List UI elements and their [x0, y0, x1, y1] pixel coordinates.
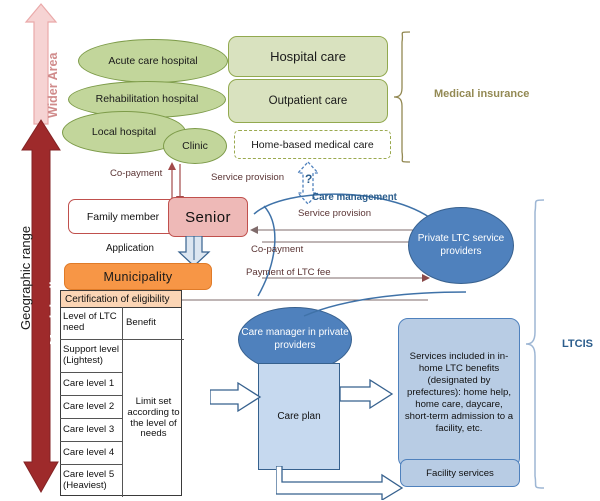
node-senior[interactable]: Senior [168, 197, 248, 237]
table-header-level: Level of LTC need [60, 307, 123, 339]
axis-label-geographic-range: Geographic range [18, 226, 33, 330]
node-label: Municipality [104, 270, 173, 284]
medical-insurance-label: Medical insurance [434, 88, 529, 100]
node-in-home-ltc-services[interactable]: Services included in in-home LTC benefit… [398, 318, 520, 468]
node-label: Senior [185, 209, 231, 226]
arrow-care-plan-to-services [340, 378, 394, 410]
table-row: Care level 2 [60, 395, 123, 418]
ltcis-label: LTCIS [562, 338, 593, 350]
table-row: Care level 1 [60, 372, 123, 395]
node-family-member[interactable]: Family member [68, 199, 178, 234]
arrow-table-to-care-plan [210, 381, 262, 413]
label-co-payment-clinic: Co-payment [110, 168, 162, 179]
node-acute-care-hospital[interactable]: Acute care hospital [78, 39, 228, 83]
node-hospital-care[interactable]: Hospital care [228, 36, 388, 77]
ltcis-bracket [524, 198, 564, 490]
label-co-payment-ltc: Co-payment [251, 244, 303, 255]
medical-insurance-bracket [392, 30, 432, 165]
node-label: Family member [87, 211, 159, 223]
node-label: Services included in in-home LTC benefit… [404, 351, 514, 435]
node-label: Care manager in private providers [239, 327, 351, 352]
node-home-based-medical-care[interactable]: Home-based medical care [234, 130, 391, 159]
label-service-provision-ltc: Service provision [298, 208, 371, 219]
eligibility-table: Level of LTC need Benefit Support level … [60, 308, 182, 496]
node-label: Home-based medical care [251, 139, 374, 151]
node-label: Acute care hospital [108, 55, 197, 67]
node-facility-services[interactable]: Facility services [400, 459, 520, 487]
node-label: Rehabilitation hospital [96, 93, 199, 105]
node-label: Hospital care [270, 49, 346, 64]
label-care-management: Care management [312, 192, 397, 203]
table-row: Care level 4 [60, 441, 123, 464]
table-row: Support level (Lightest) [60, 339, 123, 372]
diagram-canvas: Geographic range Wider Area Municipality… [0, 0, 600, 501]
node-private-ltc-service-providers[interactable]: Private LTC service providers [408, 207, 514, 284]
node-label: Facility services [426, 468, 494, 479]
table-row: Care level 5 (Heaviest) [60, 464, 123, 497]
wider-area-label: Wider Area [46, 53, 60, 118]
label-question-mark: ? [305, 172, 312, 186]
table-caption-certification: Certification of eligibility [60, 290, 182, 308]
arrow-care-plan-to-facility [276, 466, 404, 500]
node-municipality[interactable]: Municipality [64, 263, 212, 290]
node-label: Care plan [277, 411, 320, 422]
node-clinic[interactable]: Clinic [163, 128, 227, 164]
label-application: Application [106, 243, 154, 254]
node-care-plan[interactable]: Care plan [258, 363, 340, 470]
label-payment-of-ltc-fee: Payment of LTC fee [246, 267, 331, 278]
table-row: Care level 3 [60, 418, 123, 441]
table-cell-benefit-limit: Limit set according to the level of need… [123, 339, 184, 497]
node-label: Private LTC service providers [409, 233, 513, 258]
node-label: Local hospital [92, 126, 156, 138]
label-service-provision-clinic: Service provision [211, 172, 284, 183]
node-label: Outpatient care [269, 95, 348, 107]
node-label: Clinic [182, 140, 208, 152]
table-header-benefit: Benefit [123, 307, 184, 339]
node-outpatient-care[interactable]: Outpatient care [228, 79, 388, 123]
